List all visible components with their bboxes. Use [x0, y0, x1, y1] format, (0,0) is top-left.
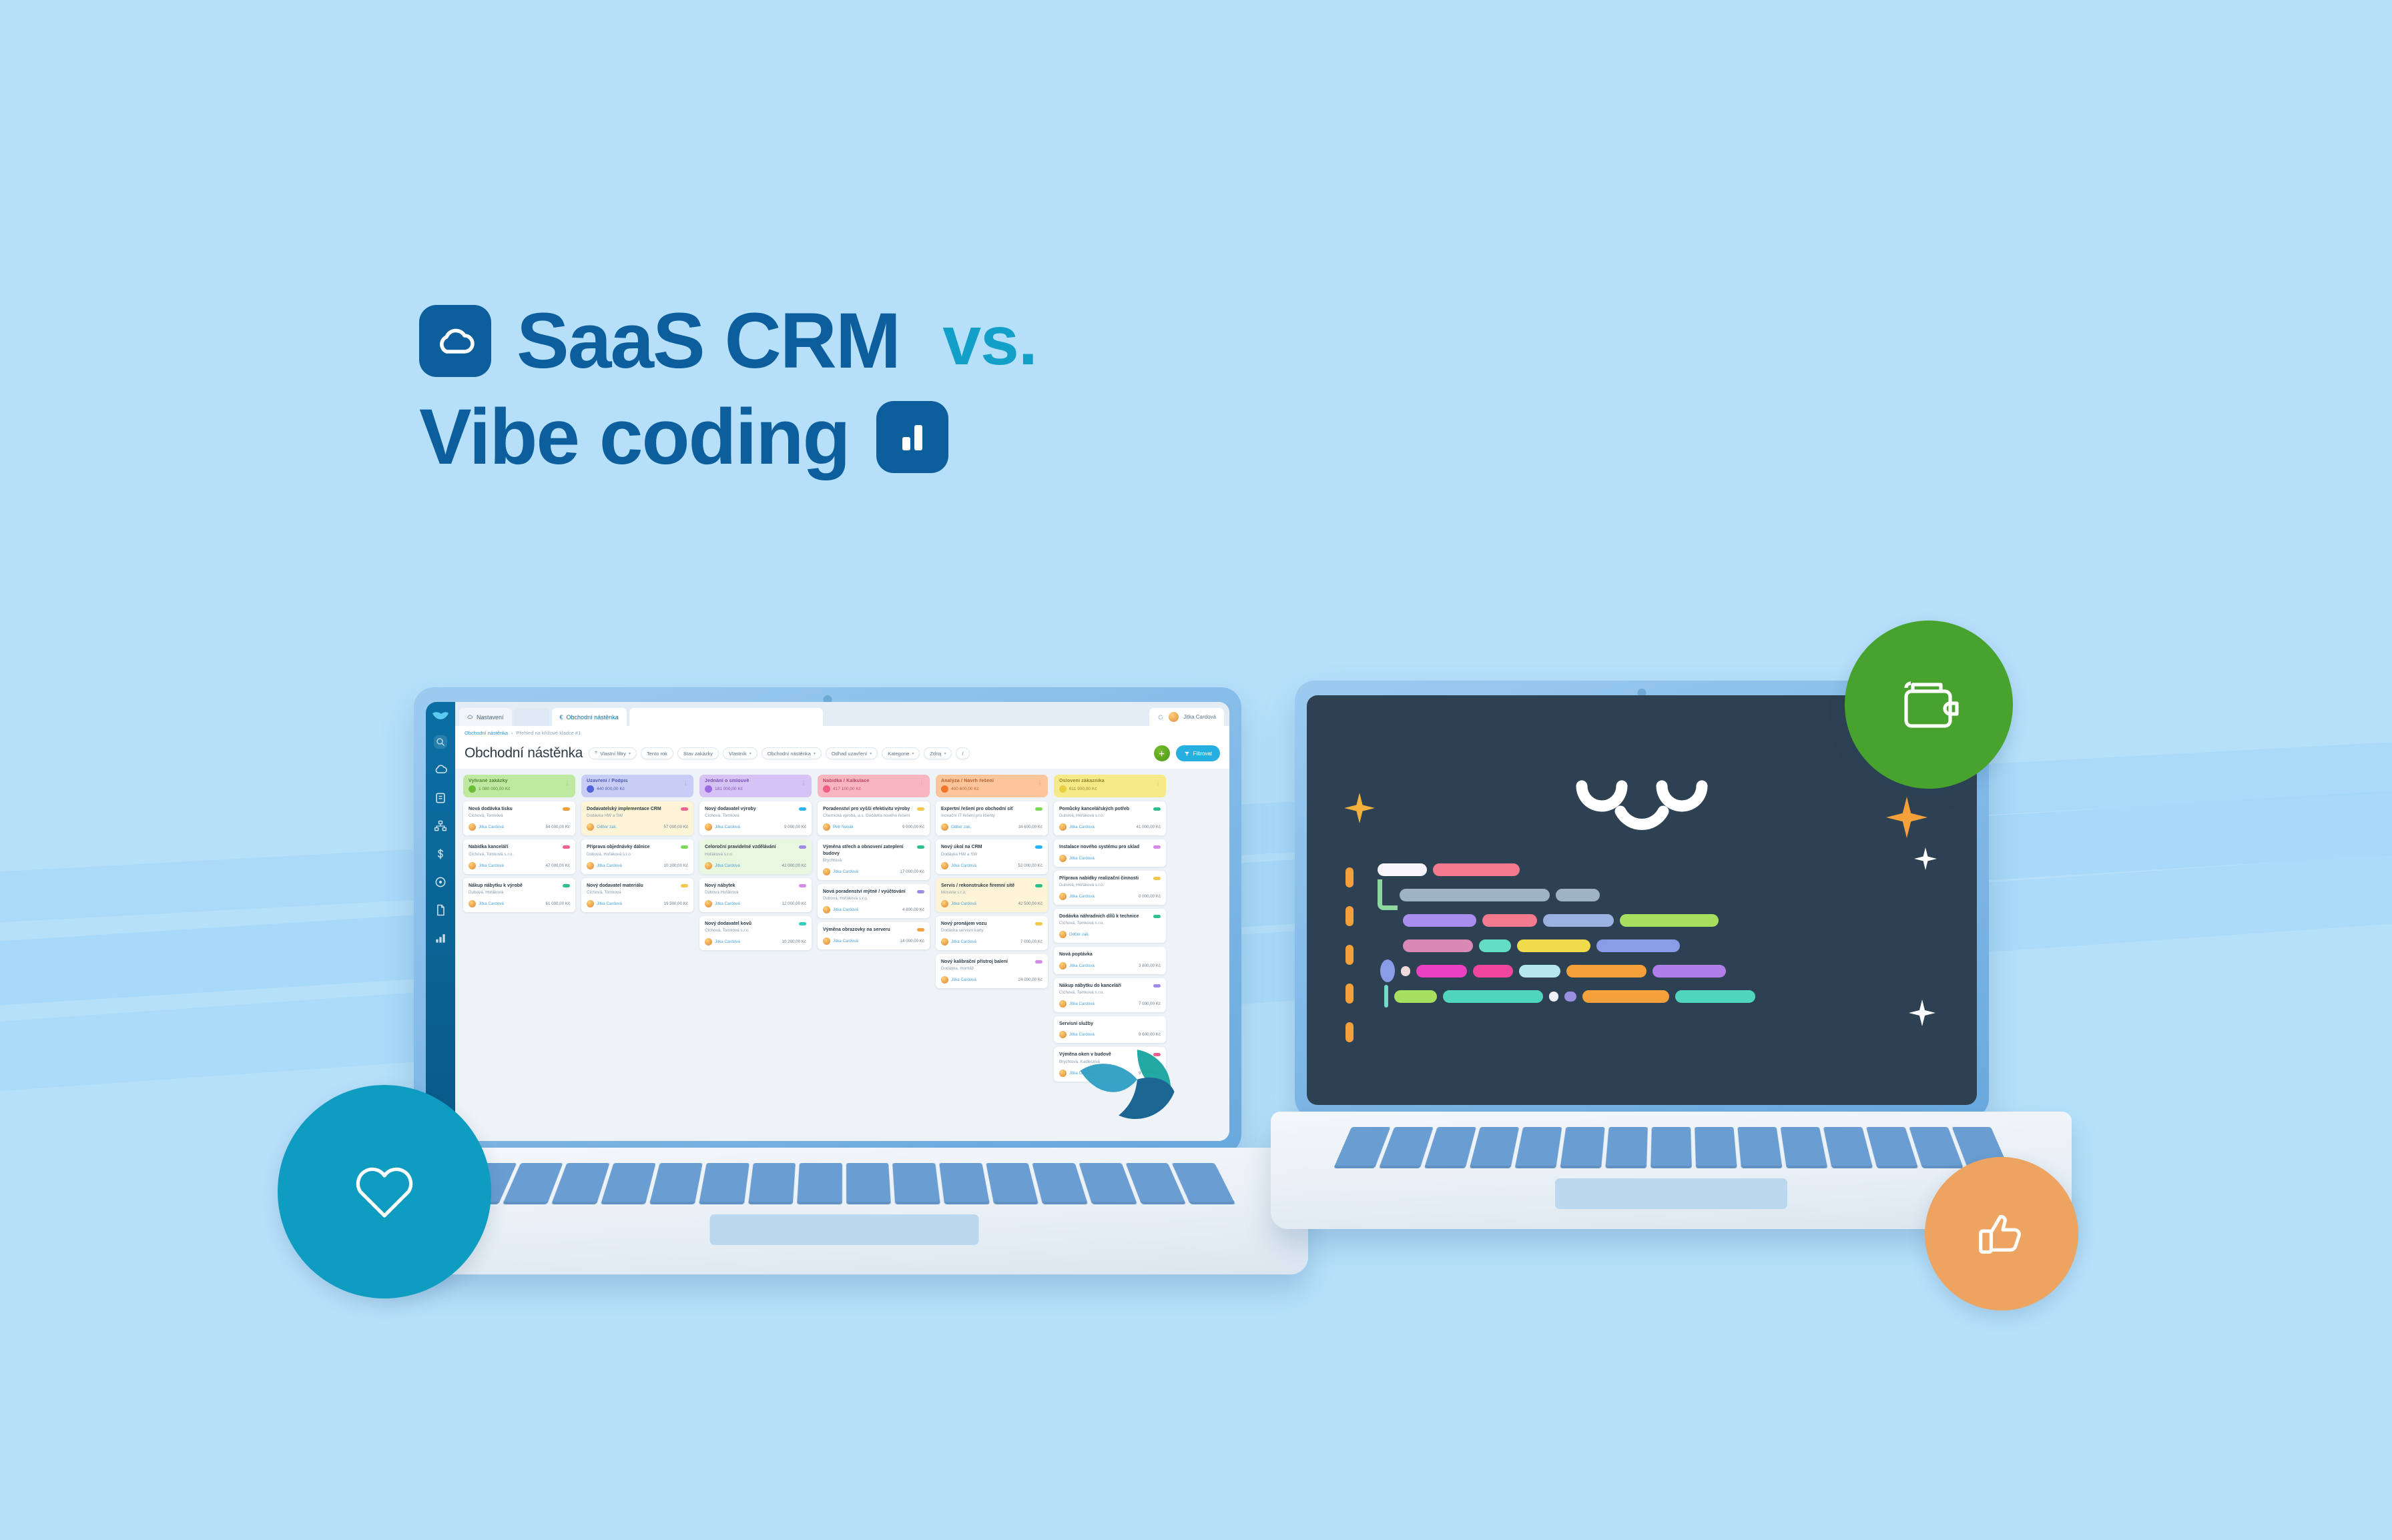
kanban-card[interactable]: Nový kalibrační přístroj baleníDodávka, … [936, 954, 1048, 988]
card-title-row: Nový dodavatel výroby [705, 806, 806, 812]
browser-tab-2[interactable]: € Obchodní nástěnka [552, 708, 627, 726]
kanban-card[interactable]: Příprava nabídky realizační činnostiDubo… [1054, 871, 1166, 905]
card-price: 10 300,00 Kč [664, 863, 688, 868]
card-price: 57 000,00 Kč [664, 825, 688, 829]
card-title: Nová poptávka [1059, 951, 1161, 957]
key[interactable] [748, 1163, 796, 1204]
kanban-card[interactable]: Nová poradenství mýtné / vyúčtováníDubov… [818, 884, 930, 918]
card-price: 7 000,00 Kč [1139, 1002, 1161, 1006]
card-title-row: Výměna obrazovky na serveru [823, 927, 924, 933]
kanban-card[interactable]: Nová dodávka tiskuCíchová, TomkováJitka … [463, 801, 575, 835]
avatar [1059, 931, 1067, 938]
column-sum: 400 600,00 Kč [951, 787, 979, 791]
code-line [1378, 862, 1755, 877]
org-chart-icon[interactable] [434, 819, 447, 833]
thumbs-up-icon [1973, 1205, 2030, 1262]
avatar [941, 976, 948, 984]
key[interactable] [893, 1163, 941, 1204]
card-price: 34 600,00 Kč [1018, 825, 1042, 829]
key[interactable] [1605, 1127, 1648, 1168]
key[interactable] [1651, 1127, 1692, 1168]
column-sum: 181 000,00 Kč [715, 787, 743, 791]
avatar [823, 868, 830, 875]
card-owner: Jitka Cardová [1069, 894, 1136, 899]
key[interactable] [699, 1163, 749, 1204]
raynet-bird-logo [432, 710, 449, 721]
avatar [941, 862, 948, 869]
filter-chip-label: Vlastník [729, 751, 747, 757]
card-title-row: Pomůcky kancelářských potřeb [1059, 806, 1161, 812]
trackpad[interactable] [1555, 1178, 1787, 1209]
key[interactable] [1424, 1127, 1476, 1168]
card-title-row: Nový kalibrační přístroj balení [941, 959, 1042, 965]
card-tag [563, 845, 570, 849]
key[interactable] [797, 1163, 842, 1204]
column-sum: 611 900,00 Kč [1069, 787, 1097, 791]
line-number-mark [1345, 1022, 1354, 1042]
kanban-card[interactable]: Příprava objednávky dálniceDubová, Hořák… [581, 839, 693, 873]
column-title: Oslovení zákazníka [1059, 779, 1161, 783]
browser-tab-label: Obchodní nástěnka [567, 714, 619, 721]
filter-chip-6[interactable]: Kategorie▾ [882, 747, 920, 759]
key[interactable] [1560, 1127, 1604, 1168]
kanban-column[interactable]: Uzavření / Podpis440 800,00 Kč⋮Dodavatel… [581, 775, 693, 1141]
card-subtitle: Cíchová, Tomková [587, 890, 688, 896]
card-tag [917, 845, 924, 849]
column-header: Nabídka / Kalkulace417 100,00 Kč⋮ [818, 775, 930, 797]
key[interactable] [601, 1163, 656, 1204]
card-title: Nový kalibrační přístroj balení [941, 959, 1032, 965]
card-subtitle: Cíchová, Tomková s.r.o. [1059, 921, 1161, 927]
code-line [1378, 887, 1755, 902]
keyboard[interactable] [453, 1163, 1235, 1204]
refresh-icon[interactable] [1157, 714, 1164, 721]
card-owner: Jitka Cardová [951, 939, 1018, 944]
dollar-icon[interactable] [434, 847, 447, 861]
card-subtitle: Inovační IT řešení pro klienty [941, 813, 1042, 819]
kanban-column[interactable]: Vyhrané zakázky1 080 000,00 Kč⋮Nová dodá… [463, 775, 575, 1141]
card-owner: Jitka Cardová [1069, 964, 1136, 968]
card-subtitle: Dubová, Hořáková [469, 890, 570, 896]
card-owner: Jitka Cardová [1069, 1002, 1136, 1006]
card-subtitle: Dodávka HW a SW [587, 813, 688, 819]
page-title: Obchodní nástěnka [465, 745, 583, 761]
card-subtitle: Dubová, Hořáková s.r.o. [1059, 813, 1161, 819]
sparkle-bottom-right-icon [1909, 1000, 1935, 1026]
filter-chip-8[interactable]: / [956, 747, 969, 759]
card-footer: Odbor zak.57 000,00 Kč [587, 823, 688, 831]
card-price: 9 600,00 Kč [1139, 1032, 1161, 1037]
card-footer: Jitka Cardová10 200,00 Kč [705, 938, 806, 945]
code-token [1519, 965, 1560, 978]
card-subtitle: Dodávka, montáž [941, 966, 1042, 972]
column-title: Vyhrané zakázky [469, 779, 570, 783]
card-subtitle: Cíchová, Tomková s.r.o. [469, 852, 570, 858]
avatar [1059, 893, 1067, 900]
filter-chip-label: Vlastní filtry [600, 751, 626, 757]
card-title-row: Servisní služby [1059, 1021, 1161, 1027]
kanban-card[interactable]: Pomůcky kancelářských potřebDubová, Hořá… [1054, 801, 1166, 835]
card-subtitle: Dubová, Hořáková s.r.o. [1059, 883, 1161, 889]
column-menu-icon[interactable]: ⋮ [1155, 780, 1161, 786]
target-icon[interactable] [434, 875, 447, 889]
filter-chip-7[interactable]: Zdroj▾ [924, 747, 952, 759]
kanban-card[interactable]: Poradenství pro vyšší efektivitu výrobyC… [818, 801, 930, 835]
column-sum-row: 400 600,00 Kč [941, 785, 1042, 793]
card-price: 9 000,00 Kč [902, 825, 924, 829]
card-footer: Jitka Cardová52 000,00 Kč [941, 862, 1042, 869]
kanban-board[interactable]: Vyhrané zakázky1 080 000,00 Kč⋮Nová dodá… [455, 769, 1229, 1141]
code-token [1596, 939, 1680, 952]
card-price: 47 000,00 Kč [546, 863, 570, 868]
card-subtitle: Moravia s.r.o. [941, 890, 1042, 896]
avatar [823, 823, 830, 831]
user-name: Jitka Cardová [1183, 714, 1216, 720]
avatar [941, 938, 948, 945]
bar-chart-icon[interactable] [434, 931, 447, 945]
crm-header: Obchodní nástěnka ⌾Vlastní filtry▾Tento … [455, 739, 1229, 769]
card-title-row: Výměna střech a obnovení zateplení budov… [823, 844, 924, 857]
raynet-bird-logo-watermark [1077, 1042, 1177, 1129]
filter-chip-label: / [962, 751, 963, 757]
key[interactable] [939, 1163, 989, 1204]
avatar [1059, 855, 1067, 862]
line-number-gutter [1345, 867, 1354, 1042]
card-price: 17 000,00 Kč [900, 869, 924, 874]
card-footer: Jitka Cardová24 000,00 Kč [941, 976, 1042, 984]
card-title-row: Nový úkol na CRM [941, 844, 1042, 850]
kanban-card[interactable]: Celoroční pravidelné vzděláváníHořáková … [699, 839, 812, 873]
key[interactable] [1823, 1127, 1873, 1168]
line-number-mark [1345, 906, 1354, 926]
card-title: Expertní řešení pro obchodní síť [941, 806, 1032, 812]
column-sum-row: 1 080 000,00 Kč [469, 785, 570, 793]
card-title: Poradenství pro vyšší efektivitu výroby [823, 806, 914, 812]
code-token [1564, 992, 1576, 1002]
card-tag [917, 928, 924, 931]
card-footer: Jitka Cardová9 000,00 Kč [705, 823, 806, 831]
card-footer: Petr Novák9 000,00 Kč [823, 823, 924, 831]
column-title: Analýza / Návrh řešení [941, 779, 1042, 783]
crm-main: Nastavení € Obchodní nástěnka [455, 702, 1229, 1141]
card-owner: Jitka Cardová [1069, 1032, 1136, 1037]
code-token [1394, 990, 1437, 1003]
chevron-down-icon: ▾ [750, 751, 752, 756]
breadcrumb-item-0[interactable]: Obchodní nástěnka [465, 730, 508, 736]
key[interactable] [1695, 1127, 1737, 1168]
card-title-row: Nový pronájem vozu [941, 921, 1042, 927]
chevron-down-icon: ▾ [944, 751, 946, 756]
funnel-icon: ⌾ [595, 751, 597, 756]
avatar [1059, 962, 1067, 970]
crm-sidebar[interactable] [426, 702, 455, 1141]
column-badge-icon [941, 785, 948, 793]
kanban-card[interactable]: Nová poptávkaJitka Cardová3 800,00 Kč [1054, 947, 1166, 974]
card-footer: Jitka Cardová0 000,00 Kč [1059, 893, 1161, 900]
card-title: Instalace nového systému pro sklad [1059, 844, 1150, 850]
card-subtitle: Cíchová, Tomková [469, 813, 570, 819]
column-header: Jednání o smlouvě181 000,00 Kč⋮ [699, 775, 812, 797]
key[interactable] [1032, 1163, 1088, 1204]
card-owner: Odbor zak. [597, 825, 661, 829]
chevron-down-icon: ▾ [629, 751, 631, 756]
wallet-badge [1845, 621, 2013, 789]
card-tag [563, 807, 570, 811]
add-button[interactable] [1154, 745, 1170, 761]
code-line [1384, 989, 1755, 1004]
card-title-row: Nová dodávka tisku [469, 806, 570, 812]
code-token [1443, 990, 1543, 1003]
column-sum: 417 100,00 Kč [833, 787, 861, 791]
avatar [705, 938, 712, 945]
card-footer: Jitka Cardová42 500,00 Kč [941, 900, 1042, 907]
code-token [1403, 914, 1476, 927]
document-icon[interactable] [434, 903, 447, 917]
keyboard[interactable] [1333, 1127, 2009, 1168]
column-badge-icon [823, 785, 830, 793]
headline: SaaS CRM vs. Vibe coding [419, 302, 1554, 476]
card-footer: Jitka Cardová3 800,00 Kč [1059, 962, 1161, 970]
building-icon[interactable] [434, 791, 447, 805]
card-owner: Jitka Cardová [715, 901, 780, 906]
card-subtitle: Dubová, Hořáková s.r.o. [823, 896, 924, 902]
avatar [1059, 1031, 1067, 1038]
card-price: 24 000,00 Kč [1018, 978, 1042, 982]
avatar[interactable] [1169, 712, 1179, 722]
trackpad[interactable] [709, 1214, 978, 1245]
card-tag [917, 807, 924, 811]
code-token [1517, 939, 1590, 952]
avatar [705, 862, 712, 869]
column-menu-icon[interactable]: ⋮ [1037, 780, 1042, 786]
kanban-card[interactable]: Výměna obrazovky na serveruJitka Cardová… [818, 922, 930, 949]
kanban-card[interactable]: Dodavatelský implementace CRMDodávka HW … [581, 801, 693, 835]
column-sum: 440 800,00 Kč [597, 787, 625, 791]
code-ellipse [1380, 959, 1395, 982]
avatar [823, 906, 830, 913]
card-title-row: Dodavatelský implementace CRM [587, 806, 688, 812]
sparkle-top-left-icon [1344, 793, 1375, 823]
filter-chip-5[interactable]: Odhad uzavření▾ [826, 747, 878, 759]
key[interactable] [1470, 1127, 1520, 1168]
card-owner: Odbor zak. [951, 825, 1016, 829]
filter-chip-0[interactable]: ⌾Vlastní filtry▾ [589, 747, 637, 759]
cloud-icon [419, 305, 491, 377]
card-tag [1035, 960, 1042, 964]
kanban-column[interactable]: Nabídka / Kalkulace417 100,00 Kč⋮Poraden… [818, 775, 930, 1141]
avatar [469, 862, 476, 869]
filter-button-label: Filtrovat [1193, 751, 1212, 757]
card-price: 3 800,00 Kč [1139, 964, 1161, 968]
kanban-card[interactable]: Nákup nábytku k výroběDubová, HořákováJi… [463, 878, 575, 912]
code-token [1433, 863, 1520, 876]
card-title-row: Nabídka kanceláří [469, 844, 570, 850]
code-token [1556, 889, 1600, 901]
search-icon[interactable] [434, 735, 447, 749]
kanban-card[interactable]: Instalace nového systému pro skladJitka … [1054, 839, 1166, 866]
plus-icon [1158, 750, 1165, 757]
avatar [587, 900, 594, 907]
card-price: 54 000,00 Kč [546, 825, 570, 829]
column-menu-icon[interactable]: ⋮ [565, 780, 570, 786]
card-title: Nový nábytek [705, 883, 796, 889]
kanban-card[interactable]: Servis / rekonstrukce firemní sítěMoravi… [936, 878, 1048, 912]
card-footer: Jitka Cardová7 000,00 Kč [941, 938, 1042, 945]
key[interactable] [986, 1163, 1038, 1204]
cloud-icon [467, 715, 473, 719]
card-owner: Jitka Cardová [833, 939, 898, 943]
card-owner: Jitka Cardová [715, 825, 782, 829]
column-sum-row: 611 900,00 Kč [1059, 785, 1161, 793]
card-title: Dodávka náhradních dílů k technice [1059, 913, 1150, 919]
kanban-card[interactable]: Dodávka náhradních dílů k techniceCíchov… [1054, 909, 1166, 943]
card-title: Příprava nabídky realizační činnosti [1059, 875, 1150, 881]
column-header: Vyhrané zakázky1 080 000,00 Kč⋮ [463, 775, 575, 797]
code-line [1403, 938, 1755, 953]
column-badge-icon [469, 785, 476, 793]
code-token [1416, 965, 1467, 978]
column-badge-icon [587, 785, 594, 793]
chevron-down-icon: ▾ [870, 751, 872, 756]
code-token [1401, 966, 1410, 976]
card-footer: Jitka Cardová9 600,00 Kč [1059, 1031, 1161, 1038]
key[interactable] [650, 1163, 703, 1204]
code-token [1582, 990, 1669, 1003]
card-price: 9 000,00 Kč [784, 825, 806, 829]
card-owner: Jitka Cardová [1069, 856, 1158, 861]
card-footer: Jitka Cardová7 000,00 Kč [1059, 1000, 1161, 1008]
filter-chip-2[interactable]: Stav zakázky [677, 747, 719, 759]
heart-icon [352, 1162, 416, 1222]
card-title-row: Servis / rekonstrukce firemní sítě [941, 883, 1042, 889]
avatar [469, 900, 476, 907]
browser-tab-bar: Nastavení € Obchodní nástěnka [455, 702, 1229, 726]
key[interactable] [1781, 1127, 1828, 1168]
avatar [587, 862, 594, 869]
card-tag [681, 807, 688, 811]
card-owner: Jitka Cardová [479, 825, 543, 829]
filter-chip-3[interactable]: Vlastník▾ [723, 747, 758, 759]
card-price: 42 500,00 Kč [1018, 901, 1042, 906]
column-menu-icon[interactable]: ⋮ [801, 780, 806, 786]
browser-tab-1[interactable] [515, 708, 549, 726]
kanban-card[interactable]: Nový dodavatel kovůCíchová, Tomková s.r.… [699, 916, 812, 950]
key[interactable] [1515, 1127, 1562, 1168]
avatar [469, 823, 476, 831]
column-menu-icon[interactable]: ⋮ [683, 780, 688, 786]
card-title-row: Nákup nábytku k výrobě [469, 883, 570, 889]
kanban-card[interactable]: Nový úkol na CRMDodávka HW a SWJitka Car… [936, 839, 1048, 873]
card-title-row: Nákup nábytku do kanceláří [1059, 983, 1161, 989]
card-price: 10 200,00 Kč [782, 939, 806, 944]
avatar [1059, 1000, 1067, 1008]
crm-laptop-lid: Nastavení € Obchodní nástěnka [414, 687, 1241, 1154]
key[interactable] [846, 1163, 892, 1204]
headline-vibe-coding: Vibe coding [419, 398, 850, 476]
cloud-icon[interactable] [434, 763, 447, 777]
avatar [587, 823, 594, 831]
column-title: Uzavření / Podpis [587, 779, 688, 783]
card-owner: Jitka Cardová [833, 907, 900, 912]
code-token [1403, 939, 1473, 952]
kanban-card[interactable]: Nákup nábytku do kanceláříCíchová, Tomko… [1054, 978, 1166, 1012]
card-title-row: Instalace nového systému pro sklad [1059, 844, 1161, 850]
card-title-row: Nový dodavatel materiálu [587, 883, 688, 889]
code-token [1473, 965, 1513, 978]
filter-button[interactable]: Filtrovat [1176, 745, 1220, 761]
card-footer: Jitka Cardová61 000,00 Kč [469, 900, 570, 907]
card-subtitle: Chemická výroba, a.s. Dodávka nového řeš… [823, 813, 924, 819]
card-owner: Jitka Cardová [479, 901, 543, 906]
kanban-column[interactable]: Analýza / Návrh řešení400 600,00 Kč⋮Expe… [936, 775, 1048, 1141]
kanban-card[interactable]: Nový dodavatel výrobyCíchová, TomkováJit… [699, 801, 812, 835]
filter-chip-4[interactable]: Obchodní nástěnka▾ [762, 747, 822, 759]
line-number-mark [1345, 984, 1354, 1004]
crm-screen: Nastavení € Obchodní nástěnka [426, 702, 1229, 1141]
card-footer: Jitka Cardová4 800,00 Kč [823, 906, 924, 913]
card-title: Servisní služby [1059, 1021, 1161, 1027]
avatar [941, 900, 948, 907]
column-header: Oslovení zákazníka611 900,00 Kč⋮ [1054, 775, 1166, 797]
headline-vs: vs. [925, 306, 1037, 376]
code-token [1543, 914, 1614, 927]
kanban-card[interactable]: Nový dodavatel materiáluCíchová, Tomková… [581, 878, 693, 912]
crm-laptop-base [380, 1148, 1308, 1274]
card-tag [563, 884, 570, 887]
kanban-card[interactable]: Výměna střech a obnovení zateplení budov… [818, 839, 930, 880]
filter-chip-1[interactable]: Tento rok [641, 747, 673, 759]
browser-user-area[interactable]: Jitka Cardová [1149, 708, 1224, 726]
card-title: Servis / rekonstrukce firemní sítě [941, 883, 1032, 889]
card-subtitle: Dubová, Hořáková s.r.o. [587, 852, 688, 858]
filter-chip-label: Kategorie [888, 751, 909, 757]
kanban-card[interactable]: Nový nábytekDubová HořákováJitka Cardová… [699, 878, 812, 912]
kanban-column[interactable]: Jednání o smlouvě181 000,00 Kč⋮Nový doda… [699, 775, 812, 1141]
code-token [1566, 965, 1647, 978]
card-footer: Jitka Cardová19 500,00 Kč [587, 900, 688, 907]
key[interactable] [1737, 1127, 1782, 1168]
funnel-icon [1184, 751, 1190, 757]
kanban-card[interactable]: Servisní službyJitka Cardová9 600,00 Kč [1054, 1016, 1166, 1043]
breadcrumb-item-1: Přehled na křížové kladce #1 [517, 730, 581, 736]
card-tag [681, 884, 688, 887]
kanban-card[interactable]: Expertní řešení pro obchodní síťInovační… [936, 801, 1048, 835]
avatar [1059, 1070, 1067, 1077]
headline-line-2: Vibe coding [419, 398, 1554, 476]
kanban-card[interactable]: Nový pronájem vozuDodávka servisní karty… [936, 916, 1048, 950]
card-title: Výměna střech a obnovení zateplení budov… [823, 844, 914, 857]
browser-tab-0[interactable]: Nastavení [459, 708, 512, 726]
card-tag [1153, 984, 1161, 988]
filter-chip-label: Tento rok [647, 751, 667, 757]
card-title-row: Nová poptávka [1059, 951, 1161, 957]
filter-chip-label: Odhad uzavření [832, 751, 867, 757]
card-owner: Jitka Cardová [715, 939, 780, 944]
card-title: Nový úkol na CRM [941, 844, 1032, 850]
kanban-card[interactable]: Nabídka kanceláříCíchová, Tomková s.r.o.… [463, 839, 575, 873]
smiling-face-icon [1535, 775, 1749, 829]
code-lines [1378, 862, 1755, 1004]
card-owner: Jitka Cardová [951, 901, 1016, 906]
sparkle-mid-right-icon [1914, 847, 1937, 870]
card-owner: Jitka Cardová [479, 863, 543, 868]
bar-chart-icon [876, 401, 948, 473]
column-menu-icon[interactable]: ⋮ [919, 780, 924, 786]
card-title-row: Dodávka náhradních dílů k technice [1059, 913, 1161, 919]
card-title: Nový pronájem vozu [941, 921, 1032, 927]
browser-tab-3[interactable] [629, 708, 823, 726]
code-token [1620, 914, 1719, 927]
